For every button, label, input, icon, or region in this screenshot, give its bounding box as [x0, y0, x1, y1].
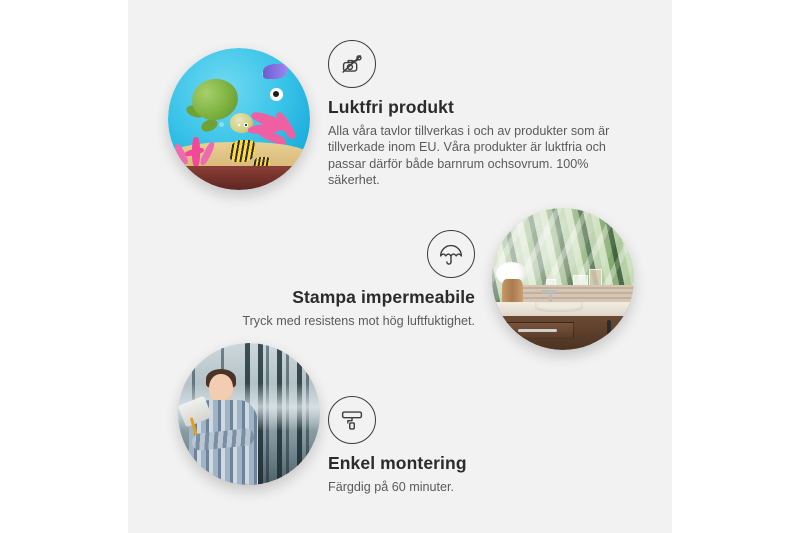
bathroom-tropical-wallpaper-photo [492, 208, 634, 350]
feature-waterproof: Stampa impermeabile Tryck med resistens … [198, 230, 475, 329]
coral-branch [199, 141, 216, 166]
feature-assembly: Enkel montering Färgdig på 60 minuter. [328, 396, 588, 495]
woman-face [209, 374, 233, 402]
octopus-head [258, 79, 307, 120]
octopus-eye [270, 88, 283, 100]
feature-odourless: Luktfri produkt Alla våra tavlor tillver… [328, 40, 628, 189]
feature-body: Alla våra tavlor tillverkas i och av pro… [328, 123, 628, 189]
feature-title: Enkel montering [328, 453, 588, 474]
cabinet-handle-icon [607, 320, 611, 344]
umbrella-icon [427, 230, 475, 278]
feature-icon-wrap [328, 40, 628, 88]
woman-painter-forest-photo [178, 343, 320, 485]
drawer-handle-icon [518, 329, 558, 332]
sink-basin [535, 302, 583, 312]
feature-body: Tryck med resistens mot hög luftfuktighe… [198, 313, 475, 329]
photo-inner [168, 48, 310, 190]
poster-canvas: Luktfri produkt Alla våra tavlor tillver… [0, 0, 800, 533]
no-fragrance-icon [328, 40, 376, 88]
photo-inner [492, 208, 634, 350]
paint-roller-icon [328, 396, 376, 444]
underwater-kids-mural-photo [168, 48, 310, 190]
sea-floor-shadow [168, 166, 310, 190]
feature-body: Färgdig på 60 minuter. [328, 479, 588, 495]
yellow-striped-fish-icon [230, 140, 254, 161]
feature-title: Stampa impermeabile [198, 287, 475, 308]
feature-title: Luktfri produkt [328, 97, 628, 118]
photo-inner [178, 343, 320, 485]
coral-icon [174, 125, 222, 168]
feature-icon-wrap [198, 230, 475, 278]
feature-icon-wrap [328, 396, 588, 444]
